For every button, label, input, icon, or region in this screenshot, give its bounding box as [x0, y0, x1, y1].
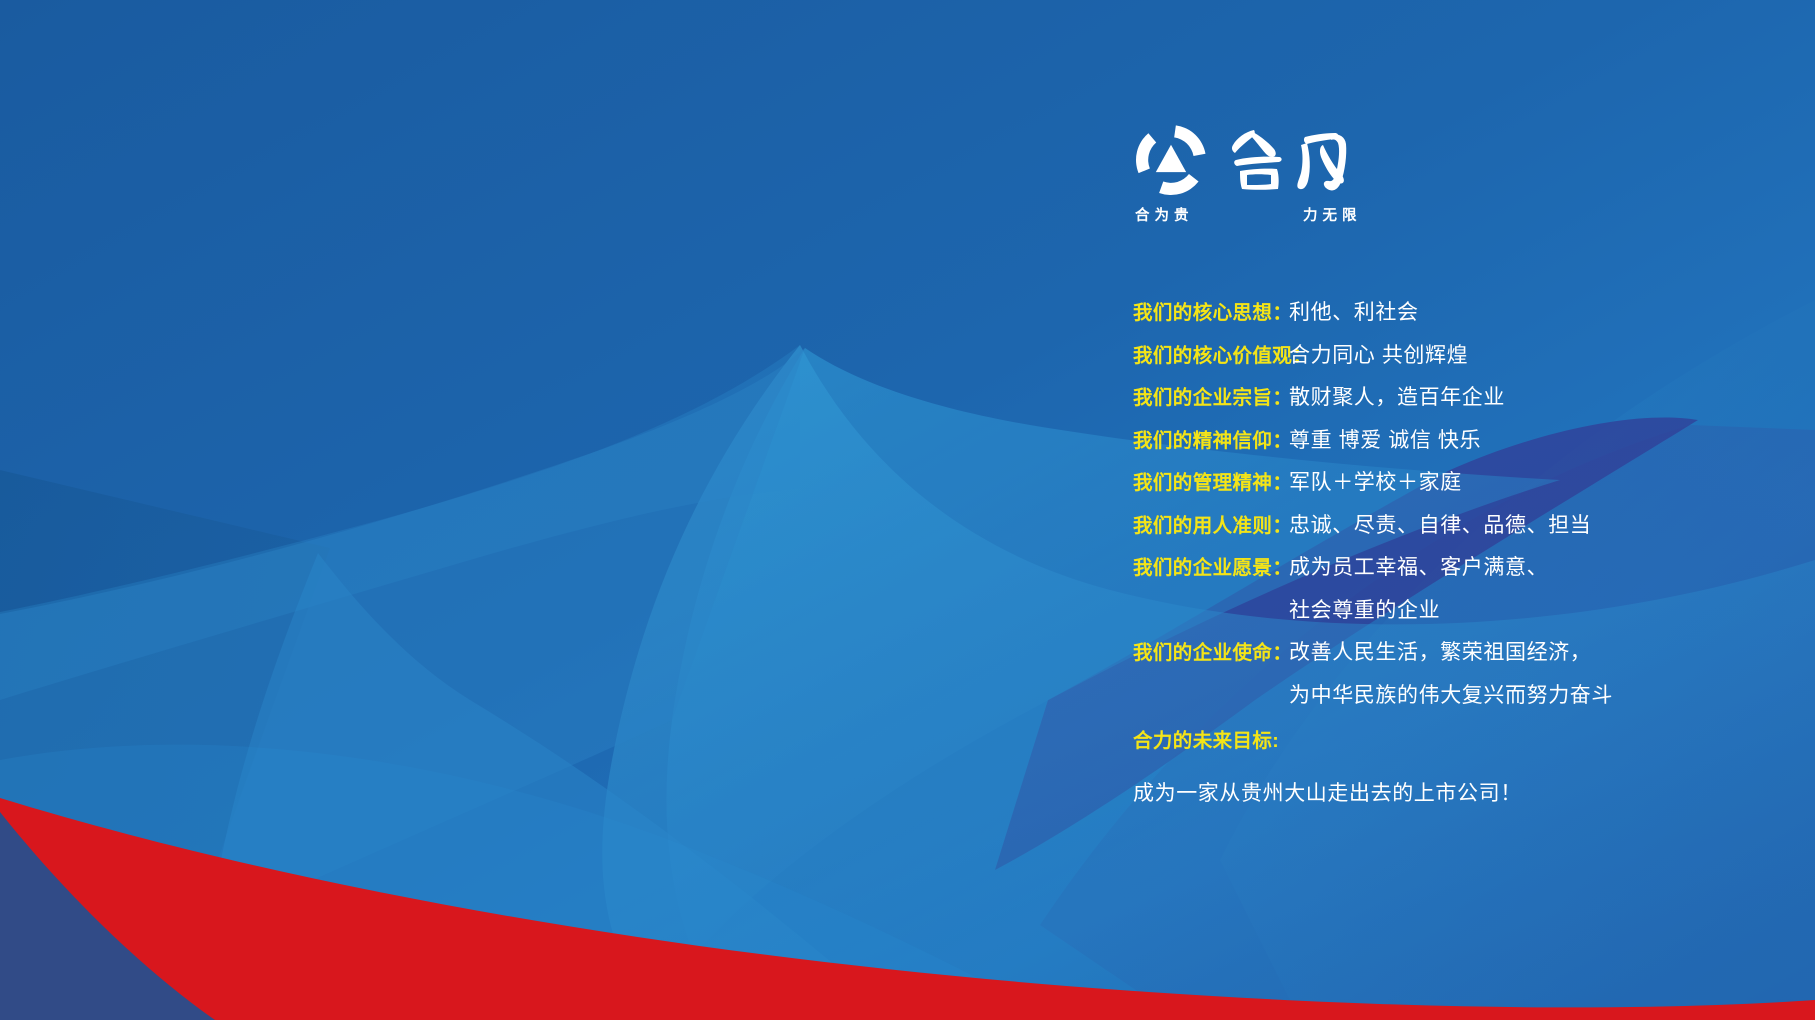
culture-value: 忠诚、尽责、自律、品德、担当	[1289, 509, 1591, 539]
culture-row: 我们的核心价值观： 合力同心 共创辉煌	[1133, 339, 1793, 369]
culture-value-continuation: 社会尊重的企业	[1289, 594, 1793, 624]
culture-row: 我们的企业宗旨： 散财聚人，造百年企业	[1133, 381, 1793, 411]
tagline-gap	[1239, 204, 1253, 225]
tagline-right: 力 无 限	[1303, 204, 1357, 225]
culture-row: 我们的企业使命： 改善人民生活，繁荣祖国经济，	[1133, 636, 1793, 666]
culture-label: 我们的用人准则：	[1133, 509, 1285, 538]
heli-triangle-ring-logo-icon	[1133, 122, 1209, 198]
slide-canvas: 合 为 贵 力 无 限 我们的核心思想： 利他、利社会 我们的核心价值观： 合力…	[0, 0, 1815, 1020]
culture-statement-list: 我们的核心思想： 利他、利社会 我们的核心价值观： 合力同心 共创辉煌 我们的企…	[1133, 296, 1793, 807]
culture-value: 改善人民生活，繁荣祖国经济，	[1289, 636, 1591, 666]
culture-row: 我们的企业愿景： 成为员工幸福、客户满意、	[1133, 551, 1793, 581]
culture-row: 我们的用人准则： 忠诚、尽责、自律、品德、担当	[1133, 509, 1793, 539]
culture-label: 我们的企业使命：	[1133, 636, 1285, 665]
heli-wordmark	[1223, 125, 1373, 195]
culture-value: 军队＋学校＋家庭	[1289, 466, 1462, 496]
culture-label: 我们的企业愿景：	[1133, 551, 1285, 580]
future-goal-heading: 合力的未来目标:	[1133, 724, 1793, 753]
culture-row: 我们的精神信仰： 尊重 博爱 诚信 快乐	[1133, 424, 1793, 454]
culture-label: 我们的核心思想：	[1133, 296, 1285, 325]
future-goal-text: 成为一家从贵州大山走出去的上市公司！	[1133, 777, 1793, 807]
culture-label: 我们的精神信仰：	[1133, 424, 1285, 453]
culture-value: 成为员工幸福、客户满意、	[1289, 551, 1548, 581]
culture-value: 合力同心 共创辉煌	[1289, 339, 1468, 369]
culture-value: 尊重 博爱 诚信 快乐	[1289, 424, 1481, 454]
culture-value: 利他、利社会	[1289, 296, 1419, 326]
culture-value: 散财聚人，造百年企业	[1289, 381, 1505, 411]
logo-tagline: 合 为 贵 力 无 限	[1133, 204, 1357, 225]
culture-row: 我们的管理精神： 军队＋学校＋家庭	[1133, 466, 1793, 496]
brand-logo: 合 为 贵 力 无 限	[1133, 122, 1363, 222]
culture-row: 我们的核心思想： 利他、利社会	[1133, 296, 1793, 326]
tagline-left: 合 为 贵	[1135, 204, 1189, 225]
culture-label: 我们的核心价值观：	[1133, 339, 1285, 368]
culture-value-continuation: 为中华民族的伟大复兴而努力奋斗	[1289, 679, 1793, 709]
culture-label: 我们的管理精神：	[1133, 466, 1285, 495]
culture-label: 我们的企业宗旨：	[1133, 381, 1285, 410]
